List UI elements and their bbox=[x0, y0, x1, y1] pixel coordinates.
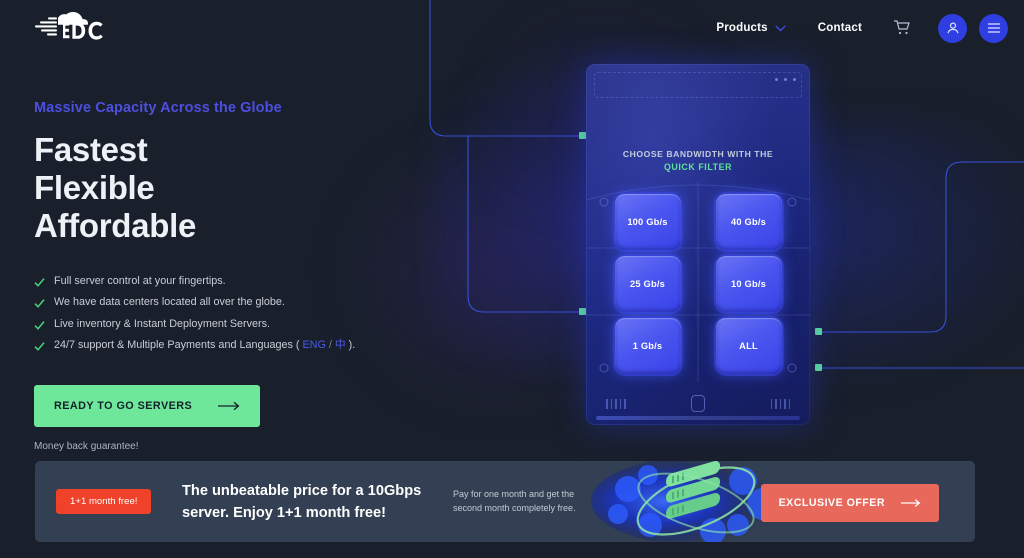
check-icon bbox=[34, 298, 45, 309]
nav-item-contact[interactable]: Contact bbox=[802, 22, 878, 34]
hero-headline: Fastest Flexible Affordable bbox=[34, 132, 414, 245]
panel-dotted-border bbox=[594, 72, 802, 98]
hero-section: Massive Capacity Across the Globe Fastes… bbox=[34, 100, 414, 452]
feature-item: We have data centers located all over th… bbox=[34, 296, 414, 309]
promo-headline: The unbeatable price for a 10Gbps server… bbox=[182, 480, 442, 524]
promo-subtext: Pay for one month and get the second mon… bbox=[453, 488, 585, 515]
money-back-guarantee-text: Money back guarantee! bbox=[34, 441, 414, 452]
feature-text: We have data centers located all over th… bbox=[54, 296, 285, 309]
promo-banner: 1+1 month free! The unbeatable price for… bbox=[35, 461, 975, 542]
panel-footer bbox=[586, 381, 810, 425]
bandwidth-cell: 10 Gb/s bbox=[703, 256, 794, 312]
bandwidth-cell: 1 Gb/s bbox=[602, 318, 693, 374]
headline-line-1: Fastest bbox=[34, 132, 414, 169]
language-separator: / bbox=[326, 339, 335, 351]
panel-title-line-1: CHOOSE BANDWIDTH WITH THE bbox=[586, 149, 810, 159]
panel-title-line-2: QUICK FILTER bbox=[586, 162, 810, 172]
panel-status-dots bbox=[775, 78, 796, 81]
site-header: Products Contact bbox=[0, 0, 1024, 56]
shopping-cart-icon bbox=[893, 20, 911, 36]
feature-item-languages: 24/7 support & Multiple Payments and Lan… bbox=[34, 339, 414, 352]
panel-base-bar bbox=[596, 416, 800, 420]
offer-button-label: EXCLUSIVE OFFER bbox=[779, 497, 885, 509]
bandwidth-grid-wrap: 100 Gb/s 40 Gb/s 25 Gb/s 10 Gb/s 1 Gb/s … bbox=[586, 182, 810, 382]
headline-line-2: Flexible bbox=[34, 170, 414, 207]
language-link-english[interactable]: ENG bbox=[302, 339, 325, 351]
page-stage: Products Contact bbox=[0, 0, 1024, 558]
panel-title: CHOOSE BANDWIDTH WITH THE QUICK FILTER bbox=[586, 149, 810, 172]
cart-button[interactable] bbox=[884, 10, 920, 46]
cta-label: READY TO GO SERVERS bbox=[54, 400, 192, 412]
feature-list: Full server control at your fingertips. … bbox=[34, 275, 414, 353]
arrow-right-icon bbox=[901, 498, 921, 508]
bandwidth-cell: 40 Gb/s bbox=[703, 194, 794, 250]
panel-power-button[interactable] bbox=[691, 395, 705, 412]
check-icon bbox=[34, 341, 45, 352]
bandwidth-cell: ALL bbox=[703, 318, 794, 374]
exclusive-offer-button[interactable]: EXCLUSIVE OFFER bbox=[761, 484, 939, 522]
check-icon bbox=[34, 277, 45, 288]
chevron-down-icon bbox=[775, 25, 786, 32]
user-account-icon bbox=[946, 21, 960, 35]
cloud-speed-logo-icon bbox=[34, 12, 132, 44]
feature-text-prefix: 24/7 support & Multiple Payments and Lan… bbox=[54, 339, 302, 351]
check-icon bbox=[34, 320, 45, 331]
bandwidth-option-all[interactable]: ALL bbox=[716, 318, 782, 374]
menu-button[interactable] bbox=[979, 14, 1008, 43]
arrow-right-icon bbox=[218, 401, 240, 411]
hero-eyebrow: Massive Capacity Across the Globe bbox=[34, 100, 414, 116]
main-navigation: Products Contact bbox=[700, 10, 1008, 46]
feature-text: 24/7 support & Multiple Payments and Lan… bbox=[54, 339, 355, 352]
feature-item: Live inventory & Instant Deployment Serv… bbox=[34, 318, 414, 331]
bandwidth-cell: 25 Gb/s bbox=[602, 256, 693, 312]
panel-vent-right bbox=[771, 399, 791, 409]
feature-item: Full server control at your fingertips. bbox=[34, 275, 414, 288]
headline-line-3: Affordable bbox=[34, 208, 414, 245]
bandwidth-option-40[interactable]: 40 Gb/s bbox=[716, 194, 782, 250]
bandwidth-options-grid: 100 Gb/s 40 Gb/s 25 Gb/s 10 Gb/s 1 Gb/s … bbox=[586, 182, 810, 382]
account-button[interactable] bbox=[938, 14, 967, 43]
feature-text: Full server control at your fingertips. bbox=[54, 275, 226, 288]
bandwidth-option-10[interactable]: 10 Gb/s bbox=[716, 256, 782, 312]
hamburger-menu-icon bbox=[987, 22, 1001, 34]
nav-contact-label: Contact bbox=[818, 22, 862, 34]
bandwidth-option-1[interactable]: 1 Gb/s bbox=[615, 318, 681, 374]
bandwidth-option-25[interactable]: 25 Gb/s bbox=[615, 256, 681, 312]
feature-text: Live inventory & Instant Deployment Serv… bbox=[54, 318, 270, 331]
nav-products-label: Products bbox=[716, 22, 767, 34]
nav-item-products[interactable]: Products bbox=[700, 22, 801, 34]
bandwidth-cell: 100 Gb/s bbox=[602, 194, 693, 250]
promo-badge[interactable]: 1+1 month free! bbox=[56, 489, 151, 514]
ready-to-go-servers-button[interactable]: READY TO GO SERVERS bbox=[34, 385, 260, 427]
bandwidth-option-100[interactable]: 100 Gb/s bbox=[615, 194, 681, 250]
language-link-chinese[interactable]: 中 bbox=[335, 339, 346, 351]
brand-logo[interactable] bbox=[34, 12, 132, 44]
panel-vent-left bbox=[606, 399, 626, 409]
feature-text-suffix: ). bbox=[346, 339, 356, 351]
bandwidth-filter-panel: CHOOSE BANDWIDTH WITH THE QUICK FILTER bbox=[586, 64, 810, 425]
